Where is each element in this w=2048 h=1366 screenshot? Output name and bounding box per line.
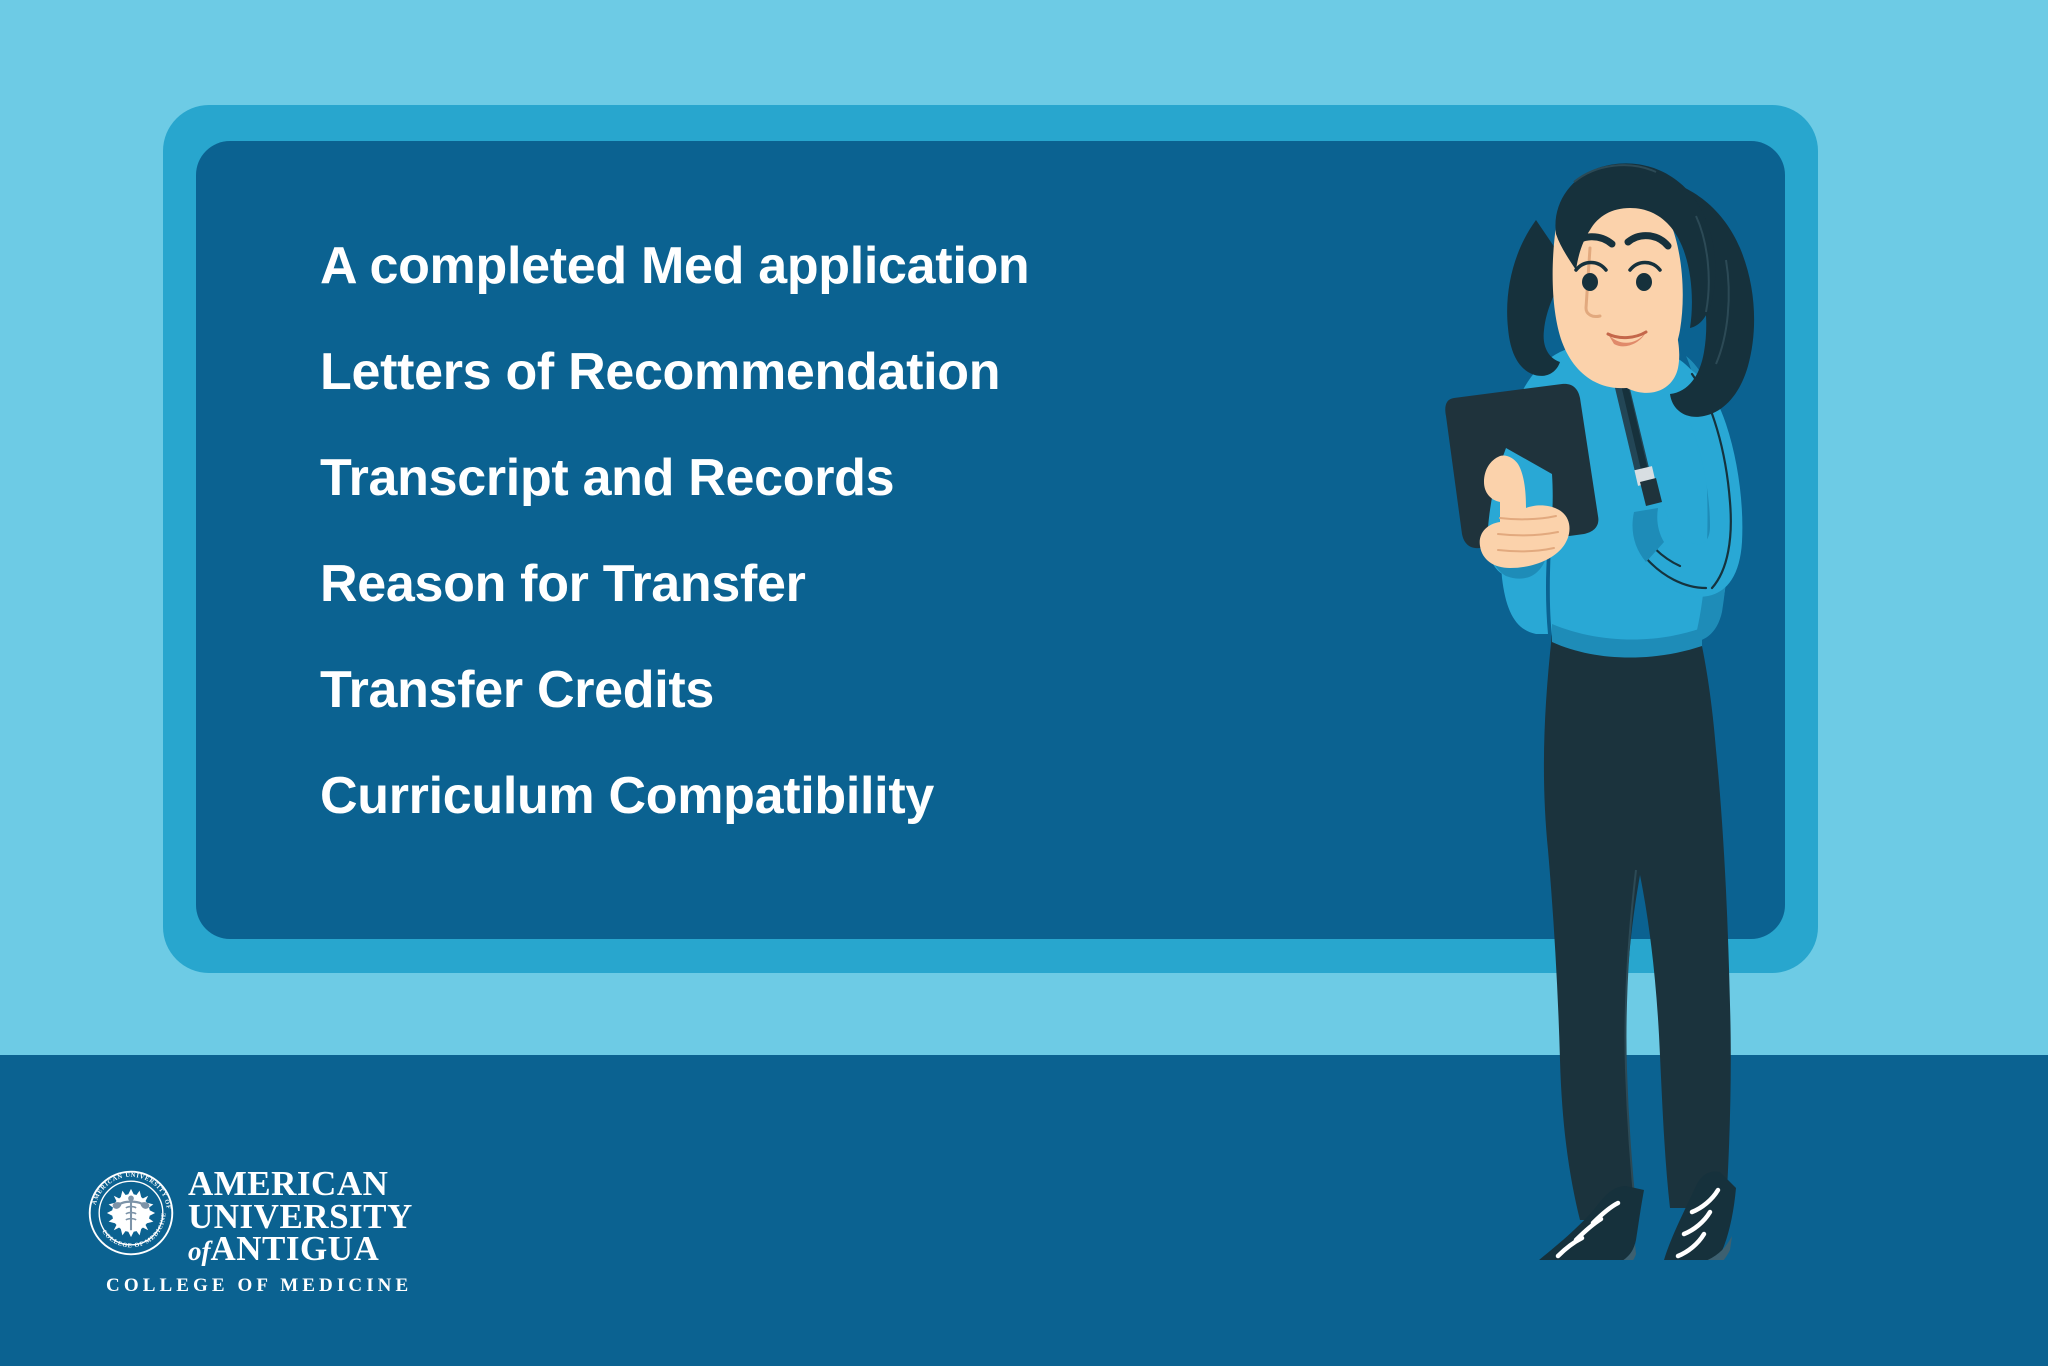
logo-wordmark: AMERICAN UNIVERSITY ofANTIGUA COLLEGE OF… (188, 1166, 413, 1297)
list-item: A completed Med application (320, 240, 1370, 292)
logo-line-3: ofANTIGUA (188, 1233, 413, 1266)
eye-right (1636, 273, 1652, 291)
aua-logo: AMERICAN UNIVERSITY OF ANTIGUA COLLEGE O… (88, 1166, 418, 1306)
seal-icon: AMERICAN UNIVERSITY OF ANTIGUA COLLEGE O… (88, 1170, 174, 1256)
infographic-canvas: A completed Med application Letters of R… (0, 0, 2048, 1366)
list-item: Curriculum Compatibility (320, 770, 1370, 822)
list-item: Transcript and Records (320, 452, 1370, 504)
trousers (1544, 585, 1731, 1220)
woman-illustration (1440, 130, 1860, 1260)
list-item: Reason for Transfer (320, 558, 1370, 610)
logo-line-1: AMERICAN (188, 1168, 413, 1201)
logo-subtitle: COLLEGE OF MEDICINE (106, 1275, 413, 1297)
logo-antigua: ANTIGUA (211, 1229, 380, 1268)
list-item: Transfer Credits (320, 664, 1370, 716)
eye-left (1582, 273, 1598, 291)
list-item: Letters of Recommendation (320, 346, 1370, 398)
checklist-list: A completed Med application Letters of R… (320, 240, 1370, 822)
logo-of: of (188, 1236, 211, 1266)
